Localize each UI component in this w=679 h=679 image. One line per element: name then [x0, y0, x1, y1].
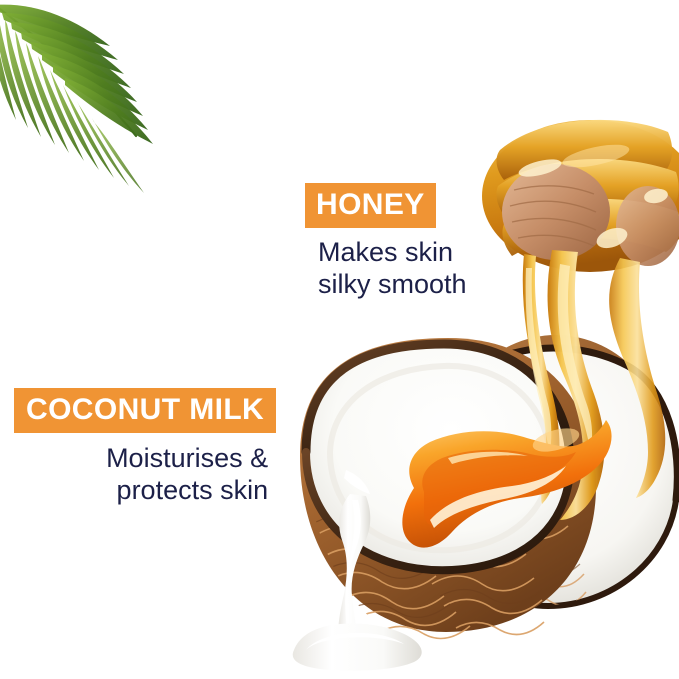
honey-line-1: Makes skin	[305, 237, 467, 267]
honey-line-2: silky smooth	[305, 269, 467, 299]
coconut-milk-line-2: protects skin	[14, 475, 276, 505]
coconut-milk-line-1: Moisturises &	[14, 443, 276, 473]
infographic-canvas: HONEY Makes skin silky smooth COCONUT MI…	[0, 0, 679, 679]
benefit-block-honey: HONEY Makes skin silky smooth	[305, 183, 467, 299]
honey-badge: HONEY	[305, 183, 436, 228]
ingredient-artwork	[0, 0, 679, 679]
benefit-block-coconut-milk: COCONUT MILK Moisturises & protects skin	[14, 388, 276, 505]
coconut-milk-badge: COCONUT MILK	[14, 388, 276, 433]
honey-dipper-icon	[482, 120, 679, 272]
milk-puddle	[293, 624, 422, 671]
